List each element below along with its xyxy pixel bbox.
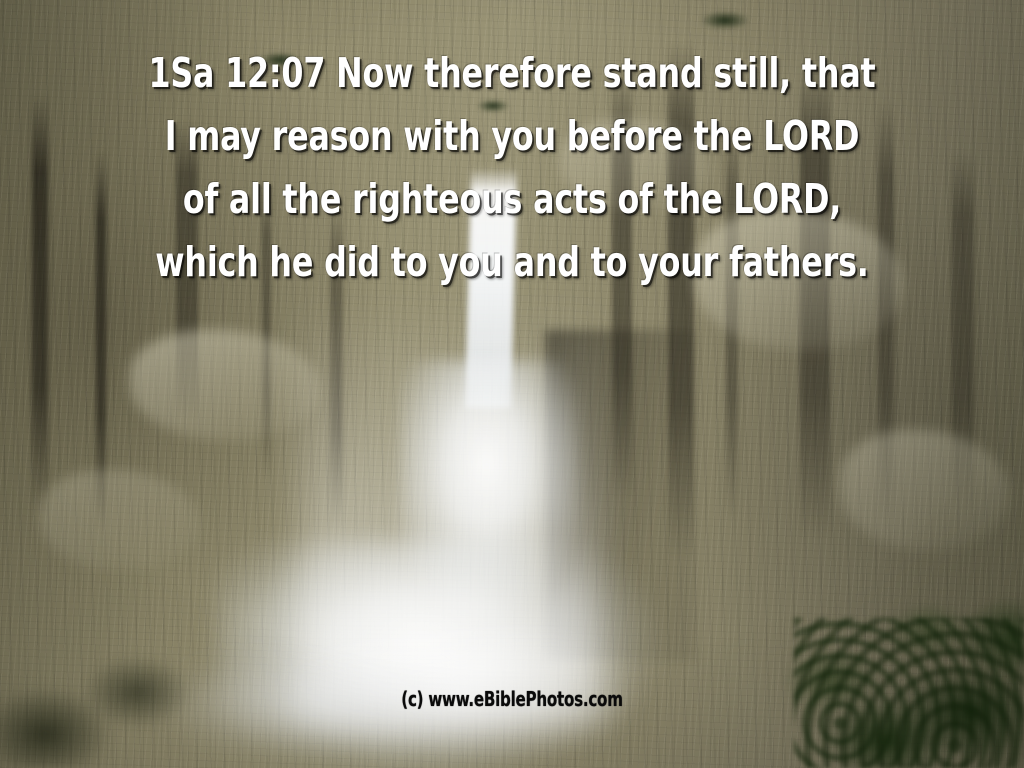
verse-line-1: 1Sa 12:07 Now therefore stand still, tha… [72, 42, 953, 105]
verse-overlay-text: 1Sa 12:07 Now therefore stand still, tha… [72, 42, 953, 294]
verse-line-2: I may reason with you before the LORD [72, 105, 953, 168]
verse-line-3: of all the righteous acts of the LORD, [72, 168, 953, 231]
copyright-watermark: (c) www.eBiblePhotos.com [82, 687, 942, 711]
bible-verse-photo: 1Sa 12:07 Now therefore stand still, tha… [0, 0, 1024, 768]
verse-line-4: which he did to you and to your fathers. [72, 231, 953, 294]
